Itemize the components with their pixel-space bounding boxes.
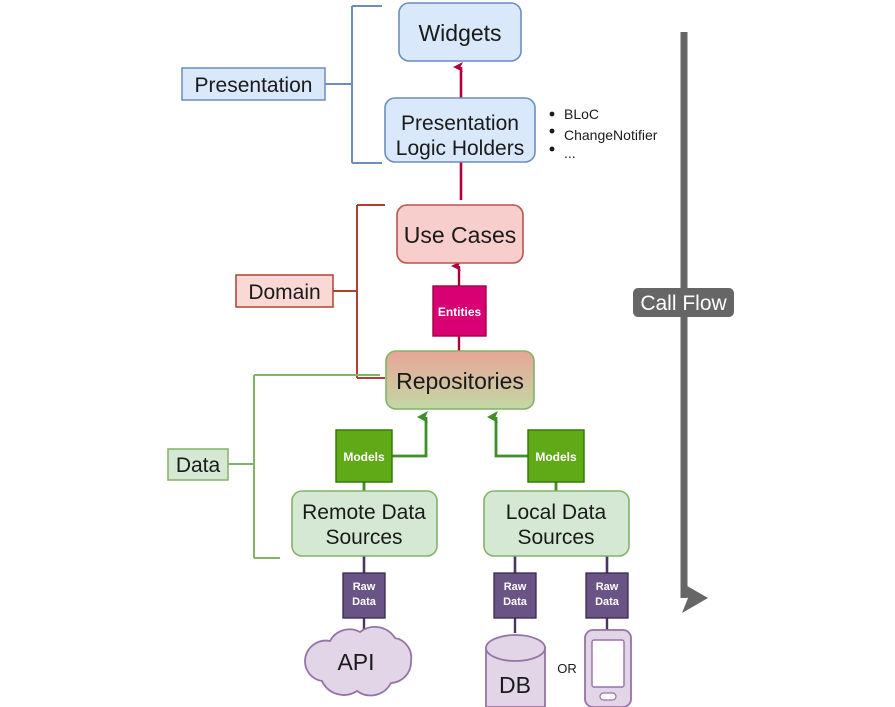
node-raw-data-api-line2: Data: [352, 596, 377, 608]
node-raw-data-db-line2: Data: [503, 596, 528, 608]
architecture-diagram: Presentation Domain Data: [0, 0, 895, 707]
node-models-remote-label: Models: [343, 450, 385, 464]
node-remote-data-sources[interactable]: Remote Data Sources: [292, 491, 437, 556]
node-raw-data-api-line1: Raw: [353, 581, 376, 593]
node-raw-data-api[interactable]: Raw Data: [343, 573, 385, 618]
bullet-dot-0: [550, 112, 555, 117]
layer-label-presentation: Presentation: [182, 68, 325, 100]
bullet-dot-1: [550, 129, 555, 134]
node-entities[interactable]: Entities: [433, 286, 486, 336]
node-raw-data-phone[interactable]: Raw Data: [586, 573, 628, 618]
bullet-label-2: ...: [564, 145, 576, 161]
phone-device-icon[interactable]: [585, 630, 631, 707]
node-models-remote[interactable]: Models: [336, 430, 392, 482]
layer-label-data: Data: [168, 449, 228, 480]
db-cylinder-label: DB: [499, 672, 531, 698]
node-raw-data-db-line1: Raw: [504, 581, 527, 593]
bullet-label-0: BLoC: [564, 106, 599, 122]
node-repositories[interactable]: Repositories: [386, 351, 534, 409]
node-widgets-label: Widgets: [418, 20, 501, 46]
node-raw-data-phone-line1: Raw: [596, 581, 619, 593]
node-entities-label: Entities: [438, 305, 482, 319]
bullet-dot-2: [550, 147, 555, 152]
bullet-label-1: ChangeNotifier: [564, 127, 658, 143]
call-flow-indicator: Call Flow: [633, 32, 734, 598]
node-local-ds-line2: Sources: [517, 526, 594, 549]
node-local-data-sources[interactable]: Local Data Sources: [484, 491, 629, 556]
node-plh-label-line1: Presentation: [401, 112, 519, 135]
call-flow-label: Call Flow: [640, 292, 727, 315]
api-cloud-icon[interactable]: API: [305, 627, 411, 696]
domain-bracket: [330, 205, 385, 378]
node-plh-label-line2: Logic Holders: [396, 137, 524, 160]
node-remote-ds-line2: Sources: [325, 526, 402, 549]
db-cylinder-icon[interactable]: DB: [486, 635, 545, 707]
phone-home-button: [600, 693, 616, 700]
phone-screen: [592, 640, 624, 687]
node-models-local-label: Models: [535, 450, 577, 464]
node-models-local[interactable]: Models: [528, 430, 584, 482]
layer-label-presentation-text: Presentation: [195, 74, 313, 97]
layer-label-data-text: Data: [176, 454, 221, 477]
node-widgets[interactable]: Widgets: [399, 3, 521, 61]
presentation-logic-bullets: BLoC ChangeNotifier ...: [550, 106, 658, 161]
layer-label-domain: Domain: [236, 275, 333, 307]
node-repositories-label: Repositories: [396, 368, 524, 394]
or-separator-label: OR: [557, 661, 577, 676]
node-raw-data-db[interactable]: Raw Data: [494, 573, 536, 618]
node-use-cases[interactable]: Use Cases: [397, 205, 523, 263]
diagram-canvas: Presentation Domain Data: [0, 0, 895, 707]
api-cloud-label: API: [337, 649, 374, 675]
presentation-bracket: [325, 6, 382, 163]
node-use-cases-label: Use Cases: [404, 222, 516, 248]
node-remote-ds-line1: Remote Data: [302, 501, 426, 524]
layer-label-domain-text: Domain: [248, 281, 320, 304]
node-raw-data-phone-line2: Data: [595, 596, 620, 608]
node-presentation-logic-holders[interactable]: Presentation Logic Holders: [385, 98, 535, 162]
node-local-ds-line1: Local Data: [506, 501, 607, 524]
